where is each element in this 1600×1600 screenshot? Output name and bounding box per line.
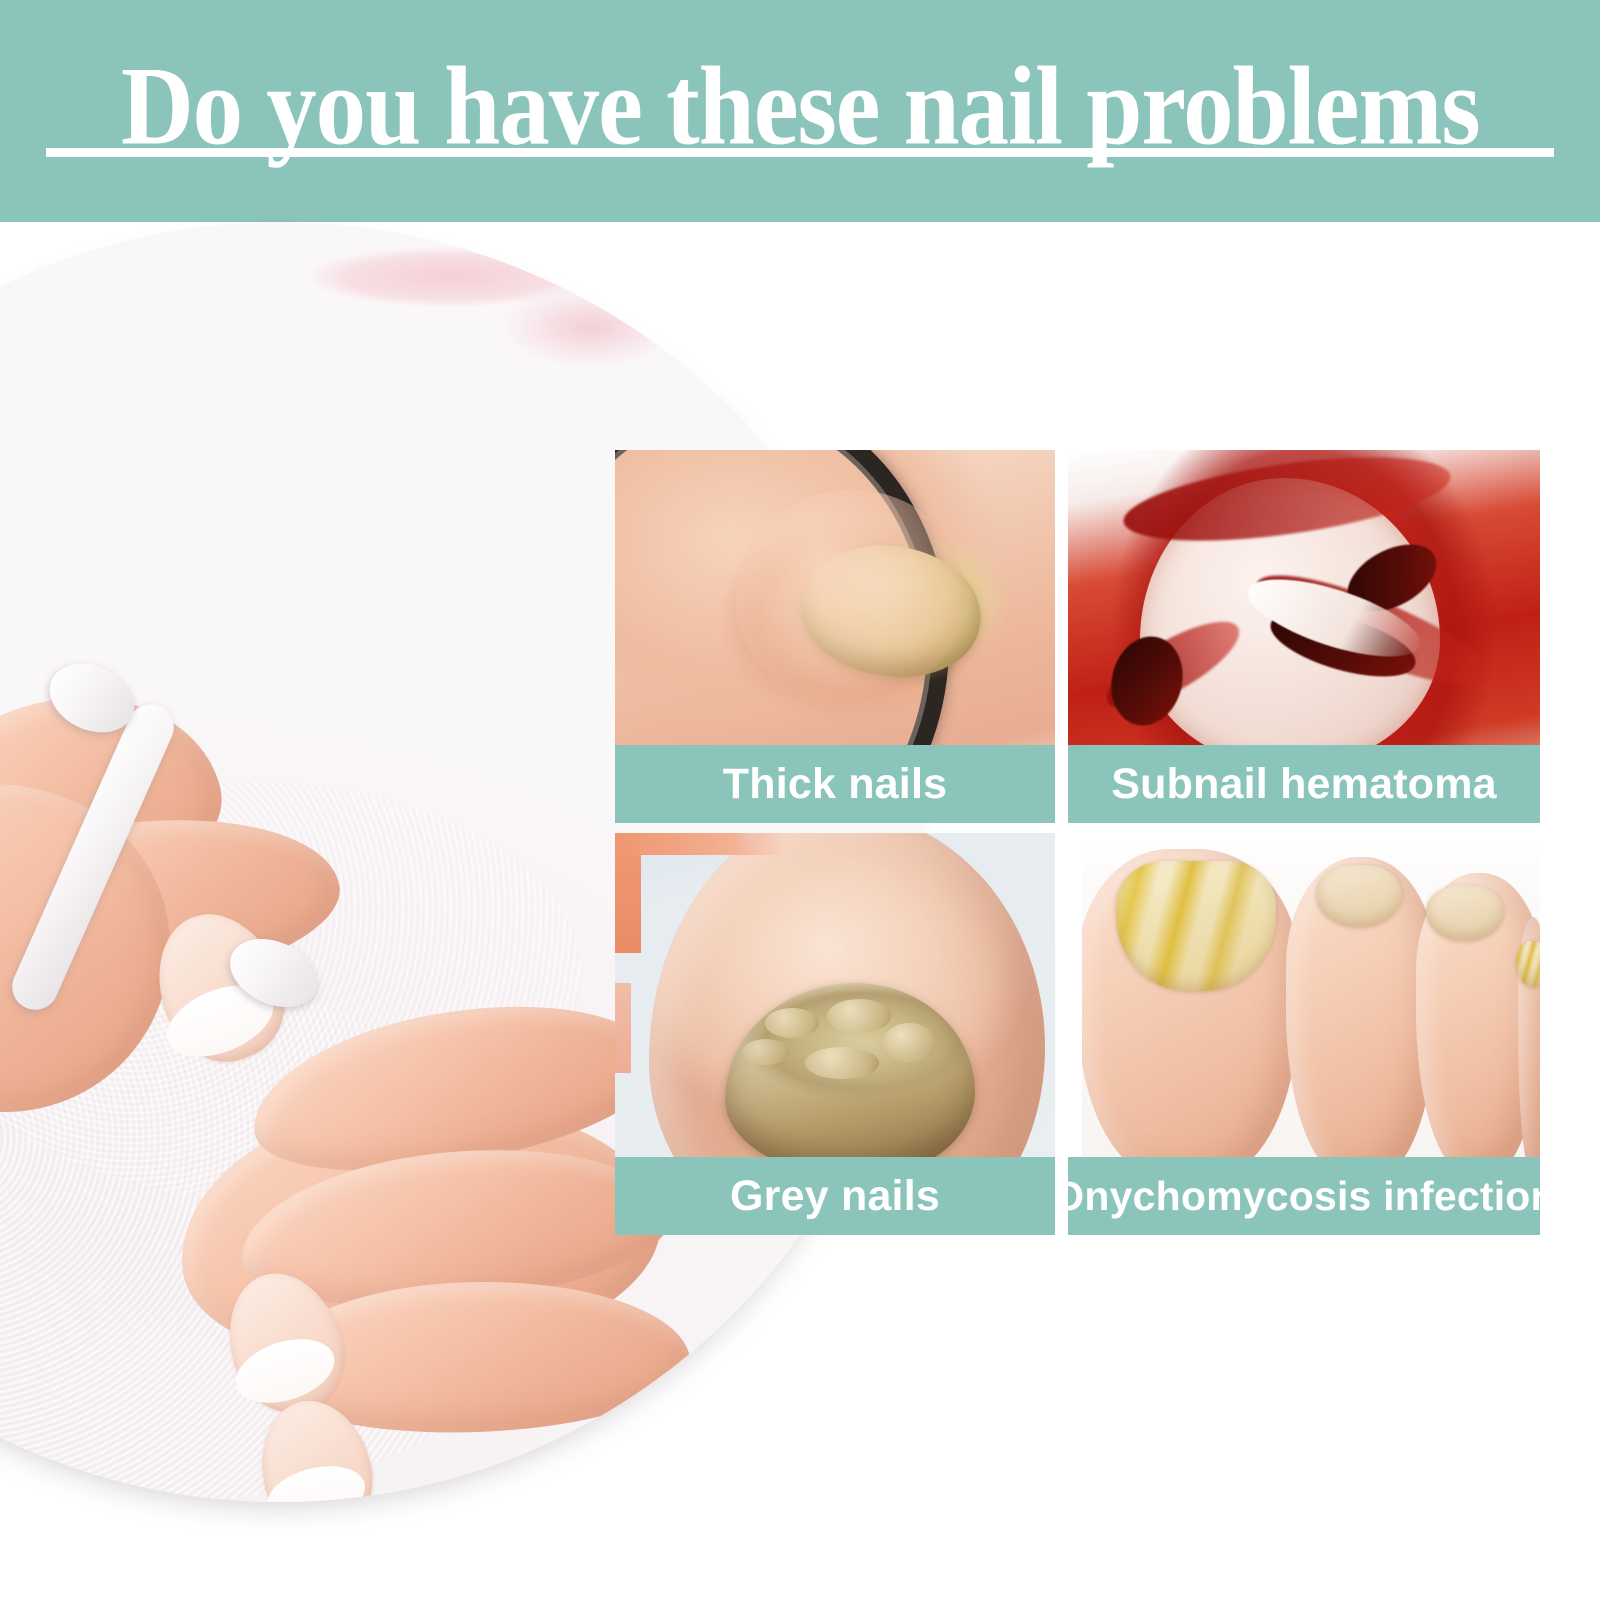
- problem-photo-grid: Thick nails Subnail hematoma: [615, 450, 1540, 1235]
- header-banner: Do you have these nail problems: [0, 0, 1600, 222]
- big-toenail-infected: [1116, 861, 1276, 991]
- problem-card-subnail-hematoma[interactable]: Subnail hematoma: [1068, 450, 1540, 823]
- nail-debris: [805, 1047, 879, 1079]
- page-title-text: Do you have these nail problems: [121, 50, 1480, 163]
- card-label-subnail-hematoma: Subnail hematoma: [1068, 745, 1540, 823]
- title-underline: [46, 148, 1554, 157]
- second-toenail: [1316, 865, 1402, 927]
- nail-debris: [765, 1008, 819, 1038]
- card-label-grey-nails: Grey nails: [615, 1157, 1055, 1235]
- page-title: Do you have these nail problems: [40, 58, 1560, 155]
- problem-card-grey-nails[interactable]: Grey nails: [615, 833, 1055, 1235]
- problem-card-thick-nails[interactable]: Thick nails: [615, 450, 1055, 823]
- top-skin-band: [615, 833, 785, 855]
- photo-white-margin-top: [1068, 833, 1540, 845]
- nail-debris: [743, 1039, 789, 1065]
- nail-debris: [883, 1023, 935, 1063]
- card-label-onychomycosis: Onychomycosis infection: [1068, 1157, 1540, 1235]
- nail-debris: [827, 999, 891, 1033]
- card-label-thick-nails: Thick nails: [615, 745, 1055, 823]
- problem-card-onychomycosis[interactable]: Onychomycosis infection: [1068, 833, 1540, 1235]
- orange-skin-sliver: [615, 983, 631, 1073]
- third-toenail: [1426, 885, 1504, 941]
